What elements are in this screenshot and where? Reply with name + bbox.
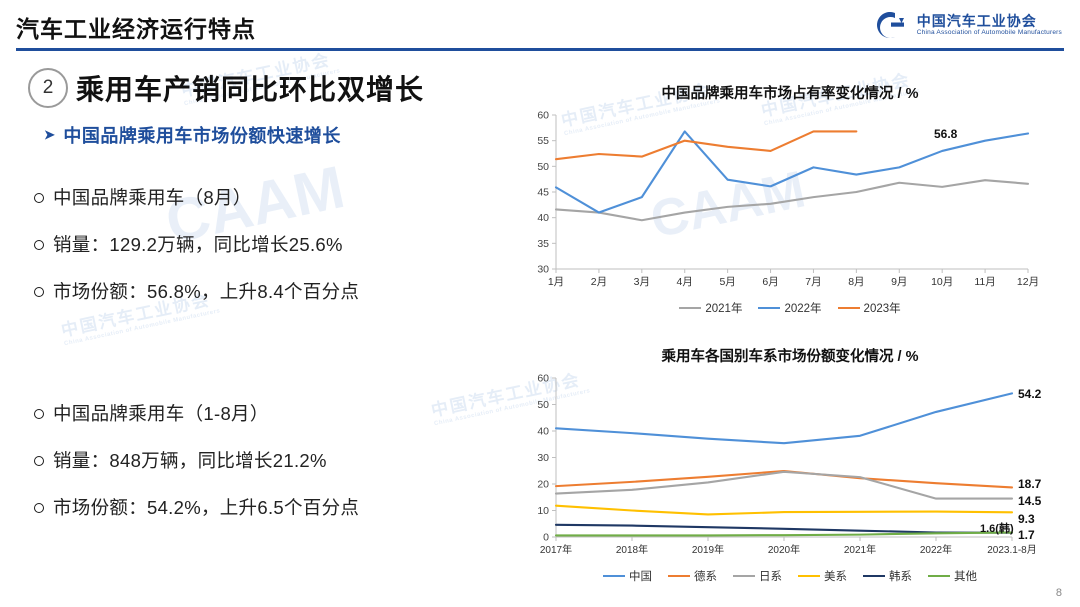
svg-text:30: 30 <box>537 452 549 464</box>
svg-text:2018年: 2018年 <box>616 543 648 556</box>
svg-text:4月: 4月 <box>677 276 693 288</box>
svg-text:10月: 10月 <box>931 276 953 288</box>
legend-swatch-icon <box>838 307 860 310</box>
list-item-label: 销量：129.2万辆，同比增长25.6% <box>53 231 343 257</box>
slide: 中国汽车工业协会 China Association of Automobile… <box>0 0 1080 607</box>
legend-item: 中国 <box>603 568 652 584</box>
bullet-dot-icon <box>34 287 44 297</box>
legend-label: 日系 <box>759 568 782 584</box>
list-item-label: 销量：848万辆，同比增长21.2% <box>53 447 327 473</box>
svg-text:2023.1-8月: 2023.1-8月 <box>987 544 1036 556</box>
bullet-dot-icon <box>34 193 44 203</box>
bullet-dot-icon <box>34 240 44 250</box>
svg-text:1月: 1月 <box>548 276 564 288</box>
svg-text:9月: 9月 <box>891 276 907 288</box>
svg-text:12月: 12月 <box>1017 276 1039 288</box>
legend-swatch-icon <box>798 575 820 578</box>
legend-swatch-icon <box>863 575 885 578</box>
svg-text:7月: 7月 <box>805 276 821 288</box>
legend-item: 其他 <box>928 568 977 584</box>
bullet-dot-icon <box>34 456 44 466</box>
svg-text:3月: 3月 <box>634 276 650 288</box>
legend-item: 韩系 <box>863 568 912 584</box>
list-item: 市场份额：56.8%，上升8.4个百分点 <box>34 278 359 304</box>
chevron-right-icon: ➤ <box>44 127 55 143</box>
legend-swatch-icon <box>733 575 755 578</box>
svg-text:54.2: 54.2 <box>1018 387 1042 401</box>
list-item-label: 市场份额：56.8%，上升8.4个百分点 <box>53 278 359 304</box>
list-item-label: 中国品牌乘用车（1-8月） <box>53 400 269 426</box>
svg-text:8月: 8月 <box>848 276 864 288</box>
svg-text:56.8: 56.8 <box>934 127 958 141</box>
legend-label: 中国 <box>629 568 652 584</box>
list-item-label: 中国品牌乘用车（8月） <box>53 184 252 210</box>
svg-text:2022年: 2022年 <box>920 543 952 556</box>
bullet-dot-icon <box>34 503 44 513</box>
caam-logo: 中国汽车工业协会 China Association of Automobile… <box>869 6 1062 44</box>
bullet-group-1: 中国品牌乘用车（8月） 销量：129.2万辆，同比增长25.6% 市场份额：56… <box>34 184 359 325</box>
legend-item: 2021年 <box>679 300 742 316</box>
svg-text:18.7: 18.7 <box>1018 477 1042 491</box>
svg-text:2020年: 2020年 <box>768 543 800 556</box>
logo-title-cn: 中国汽车工业协会 <box>917 13 1062 29</box>
logo-title-en: China Association of Automobile Manufact… <box>917 29 1062 36</box>
svg-text:20: 20 <box>537 479 549 491</box>
caam-logo-icon <box>869 7 909 43</box>
svg-text:5月: 5月 <box>719 276 735 288</box>
legend-label: 2023年 <box>864 300 901 316</box>
legend-swatch-icon <box>603 575 625 578</box>
list-item: 中国品牌乘用车（8月） <box>34 184 359 210</box>
legend-item: 2023年 <box>838 300 901 316</box>
legend-swatch-icon <box>928 575 950 578</box>
chart-brand-share: 中国品牌乘用车市场占有率变化情况 / % 303540455055601月2月3… <box>510 82 1070 317</box>
chart-canvas: 303540455055601月2月3月4月5月6月7月8月9月10月11月12… <box>510 103 1070 293</box>
legend-label: 韩系 <box>889 568 912 584</box>
svg-text:45: 45 <box>537 187 549 199</box>
section-subtitle: ➤ 中国品牌乘用车市场份额快速增长 <box>44 122 341 148</box>
legend-label: 其他 <box>954 568 977 584</box>
svg-text:1.6(韩): 1.6(韩) <box>980 521 1014 535</box>
legend-item: 2022年 <box>758 300 821 316</box>
legend-item: 德系 <box>668 568 717 584</box>
list-item: 市场份额：54.2%，上升6.5个百分点 <box>34 494 359 520</box>
svg-text:55: 55 <box>537 135 549 147</box>
svg-text:30: 30 <box>537 264 549 276</box>
svg-text:14.5: 14.5 <box>1018 494 1042 508</box>
bullet-dot-icon <box>34 409 44 419</box>
header: 汽车工业经济运行特点 中国汽车工业协会 China Association of… <box>0 0 1080 52</box>
svg-text:60: 60 <box>537 110 549 122</box>
chart-canvas: 01020304050602017年2018年2019年2020年2021年20… <box>510 366 1070 561</box>
svg-text:35: 35 <box>537 238 549 250</box>
legend-item: 美系 <box>798 568 847 584</box>
list-item: 销量：848万辆，同比增长21.2% <box>34 447 359 473</box>
chart-legend: 中国德系日系美系韩系其他 <box>510 568 1070 584</box>
svg-text:0: 0 <box>543 532 549 544</box>
svg-text:2月: 2月 <box>591 276 607 288</box>
caam-logo-text: 中国汽车工业协会 China Association of Automobile… <box>917 13 1062 37</box>
bullet-group-2: 中国品牌乘用车（1-8月） 销量：848万辆，同比增长21.2% 市场份额：54… <box>34 400 359 541</box>
header-divider <box>16 48 1064 51</box>
legend-label: 美系 <box>824 568 847 584</box>
legend-swatch-icon <box>668 575 690 578</box>
svg-text:50: 50 <box>537 399 549 411</box>
svg-text:9.3: 9.3 <box>1018 512 1035 526</box>
page-number: 8 <box>1056 587 1062 599</box>
legend-label: 2022年 <box>784 300 821 316</box>
svg-text:10: 10 <box>537 505 549 517</box>
list-item: 销量：129.2万辆，同比增长25.6% <box>34 231 359 257</box>
svg-text:40: 40 <box>537 426 549 438</box>
page-title: 汽车工业经济运行特点 <box>16 10 256 44</box>
section-number: 2 <box>28 68 68 108</box>
chart-title: 中国品牌乘用车市场占有率变化情况 / % <box>510 82 1070 103</box>
section-subtitle-label: 中国品牌乘用车市场份额快速增长 <box>63 122 341 148</box>
chart-title: 乘用车各国别车系市场份额变化情况 / % <box>510 345 1070 366</box>
svg-text:11月: 11月 <box>974 276 995 288</box>
legend-label: 德系 <box>694 568 717 584</box>
svg-text:50: 50 <box>537 161 549 173</box>
list-item-label: 市场份额：54.2%，上升6.5个百分点 <box>53 494 359 520</box>
chart-country-share: 乘用车各国别车系市场份额变化情况 / % 01020304050602017年2… <box>510 345 1070 590</box>
svg-text:2017年: 2017年 <box>540 543 572 556</box>
svg-text:60: 60 <box>537 373 549 385</box>
legend-swatch-icon <box>758 307 780 310</box>
legend-item: 日系 <box>733 568 782 584</box>
section-title: 乘用车产销同比环比双增长 <box>76 68 424 108</box>
svg-text:6月: 6月 <box>762 276 778 288</box>
chart-legend: 2021年2022年2023年 <box>510 300 1070 316</box>
svg-text:2021年: 2021年 <box>844 543 876 556</box>
list-item: 中国品牌乘用车（1-8月） <box>34 400 359 426</box>
svg-text:40: 40 <box>537 212 549 224</box>
legend-swatch-icon <box>679 307 701 310</box>
legend-label: 2021年 <box>705 300 742 316</box>
svg-text:2019年: 2019年 <box>692 543 724 556</box>
svg-text:1.7: 1.7 <box>1018 528 1035 542</box>
